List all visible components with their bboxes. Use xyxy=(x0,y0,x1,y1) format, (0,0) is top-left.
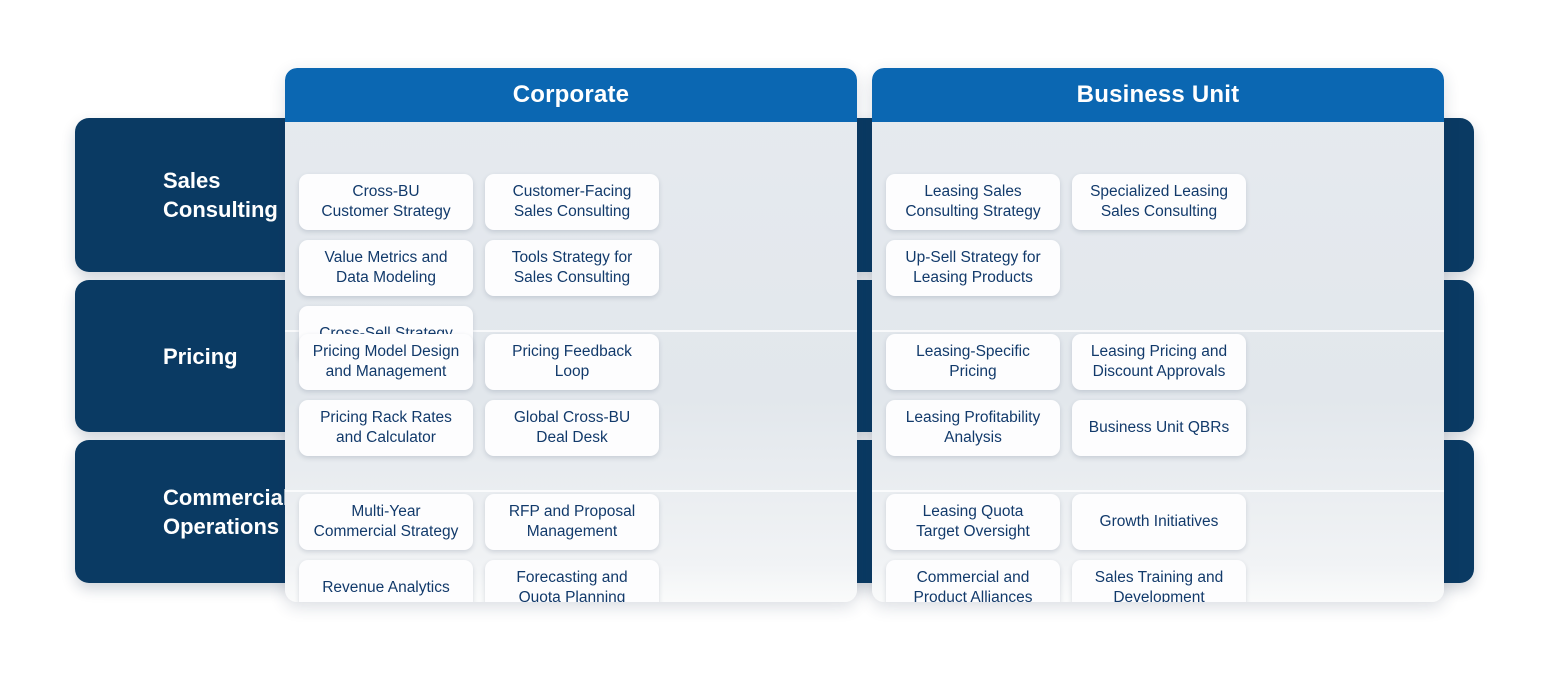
column-panel-business-unit: Business Unit Leasing Sales Consulting S… xyxy=(872,68,1444,602)
capability-card[interactable]: Global Cross-BU Deal Desk xyxy=(485,400,659,456)
capability-card[interactable]: Specialized Leasing Sales Consulting xyxy=(1072,174,1246,230)
capability-card[interactable]: Forecasting and Quota Planning xyxy=(485,560,659,602)
capability-card[interactable]: Leasing-Specific Pricing xyxy=(886,334,1060,390)
cell-business-unit-sales-consulting: Leasing Sales Consulting StrategySpecial… xyxy=(872,174,1444,324)
capability-matrix: Sales Consulting Pricing Commercial Oper… xyxy=(0,0,1550,699)
cell-corporate-commercial-operations: Multi-Year Commercial StrategyRFP and Pr… xyxy=(285,494,857,602)
row-label-sales-consulting: Sales Consulting xyxy=(163,166,278,224)
row-divider xyxy=(285,490,857,492)
column-panel-corporate: Corporate Cross-BU Customer StrategyCust… xyxy=(285,68,857,602)
cell-corporate-pricing: Pricing Model Design and ManagementPrici… xyxy=(285,334,857,484)
row-divider xyxy=(872,490,1444,492)
column-body-business-unit: Leasing Sales Consulting StrategySpecial… xyxy=(872,122,1444,602)
row-label-wrap: Commercial Operations xyxy=(163,440,289,583)
capability-card[interactable]: Leasing Sales Consulting Strategy xyxy=(886,174,1060,230)
capability-card[interactable]: Leasing Quota Target Oversight xyxy=(886,494,1060,550)
capability-card[interactable]: Commercial and Product Alliances xyxy=(886,560,1060,602)
row-label-commercial-operations: Commercial Operations xyxy=(163,483,289,541)
capability-card[interactable]: RFP and Proposal Management xyxy=(485,494,659,550)
capability-card[interactable]: Cross-BU Customer Strategy xyxy=(299,174,473,230)
column-body-corporate: Cross-BU Customer StrategyCustomer-Facin… xyxy=(285,122,857,602)
capability-card[interactable]: Customer-Facing Sales Consulting xyxy=(485,174,659,230)
capability-card[interactable]: Pricing Model Design and Management xyxy=(299,334,473,390)
capability-card[interactable]: Tools Strategy for Sales Consulting xyxy=(485,240,659,296)
column-header-corporate: Corporate xyxy=(285,68,857,122)
capability-card[interactable]: Sales Training and Development xyxy=(1072,560,1246,602)
capability-card[interactable]: Revenue Analytics xyxy=(299,560,473,602)
capability-card[interactable]: Leasing Pricing and Discount Approvals xyxy=(1072,334,1246,390)
cell-business-unit-pricing: Leasing-Specific PricingLeasing Pricing … xyxy=(872,334,1444,484)
row-label-pricing: Pricing xyxy=(163,342,238,371)
row-divider xyxy=(872,330,1444,332)
cell-corporate-sales-consulting: Cross-BU Customer StrategyCustomer-Facin… xyxy=(285,174,857,324)
capability-card[interactable]: Pricing Feedback Loop xyxy=(485,334,659,390)
column-header-business-unit: Business Unit xyxy=(872,68,1444,122)
capability-card[interactable]: Multi-Year Commercial Strategy xyxy=(299,494,473,550)
cell-business-unit-commercial-operations: Leasing Quota Target OversightGrowth Ini… xyxy=(872,494,1444,602)
capability-card[interactable]: Value Metrics and Data Modeling xyxy=(299,240,473,296)
capability-card[interactable]: Growth Initiatives xyxy=(1072,494,1246,550)
row-label-wrap: Pricing xyxy=(163,280,238,432)
capability-card[interactable]: Up-Sell Strategy for Leasing Products xyxy=(886,240,1060,296)
capability-card[interactable]: Pricing Rack Rates and Calculator xyxy=(299,400,473,456)
row-label-wrap: Sales Consulting xyxy=(163,118,278,272)
capability-card[interactable]: Business Unit QBRs xyxy=(1072,400,1246,456)
capability-card[interactable]: Leasing Profitability Analysis xyxy=(886,400,1060,456)
